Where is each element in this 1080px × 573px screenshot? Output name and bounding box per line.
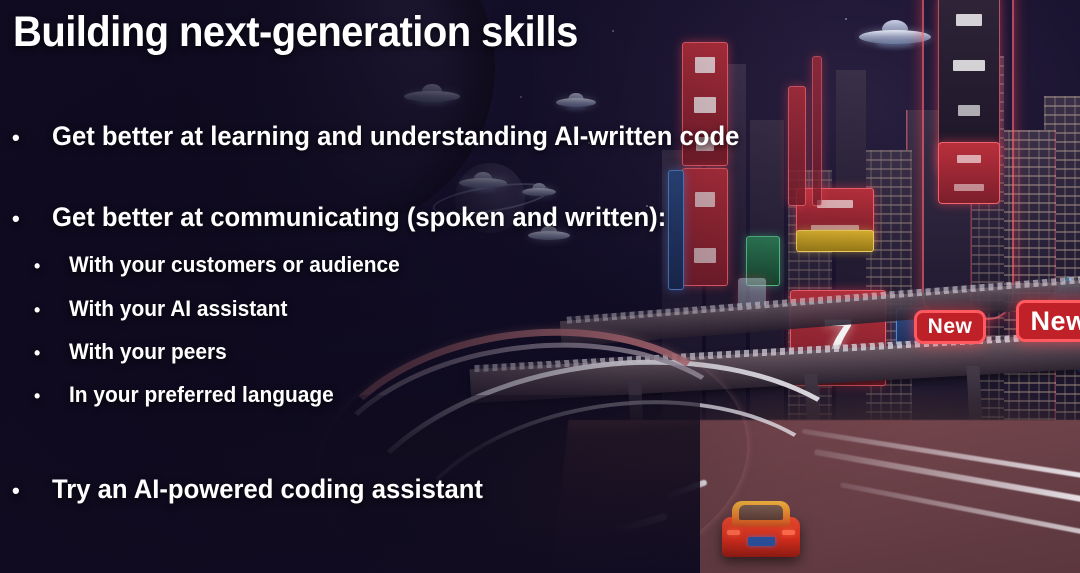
bullet-text: Get better at learning and understanding… <box>52 121 739 152</box>
bullet-item-6: • In your preferred language <box>0 382 348 408</box>
bullet-text: In your preferred language <box>69 382 334 408</box>
bullet-marker: • <box>12 480 52 502</box>
bullet-text: With your AI assistant <box>69 296 288 322</box>
bullet-marker: • <box>12 208 52 230</box>
bullet-text: With your customers or audience <box>69 252 400 278</box>
bullet-marker: • <box>34 257 69 275</box>
bullet-item-7: • Try an AI-powered coding assistant <box>0 474 506 505</box>
bullet-text: Get better at communicating (spoken and … <box>52 202 666 233</box>
page-title: Building next-generation skills <box>13 8 578 57</box>
bullet-marker: • <box>34 387 69 405</box>
bullet-item-2: • Get better at communicating (spoken an… <box>0 202 699 233</box>
bullet-text: Try an AI-powered coding assistant <box>52 474 483 505</box>
slide-canvas: 7 <box>0 0 1080 573</box>
bullet-item-4: • With your AI assistant <box>0 296 299 322</box>
bullet-marker: • <box>34 344 69 362</box>
bullet-item-3: • With your customers or audience <box>0 252 417 278</box>
bullet-text: With your peers <box>69 339 227 365</box>
bullet-marker: • <box>12 127 52 149</box>
slide-content: Building next-generation skills • Get be… <box>0 0 1080 573</box>
bullet-item-1: • Get better at learning and understandi… <box>0 121 776 152</box>
bullet-marker: • <box>34 301 69 319</box>
bullet-item-5: • With your peers <box>0 339 235 365</box>
